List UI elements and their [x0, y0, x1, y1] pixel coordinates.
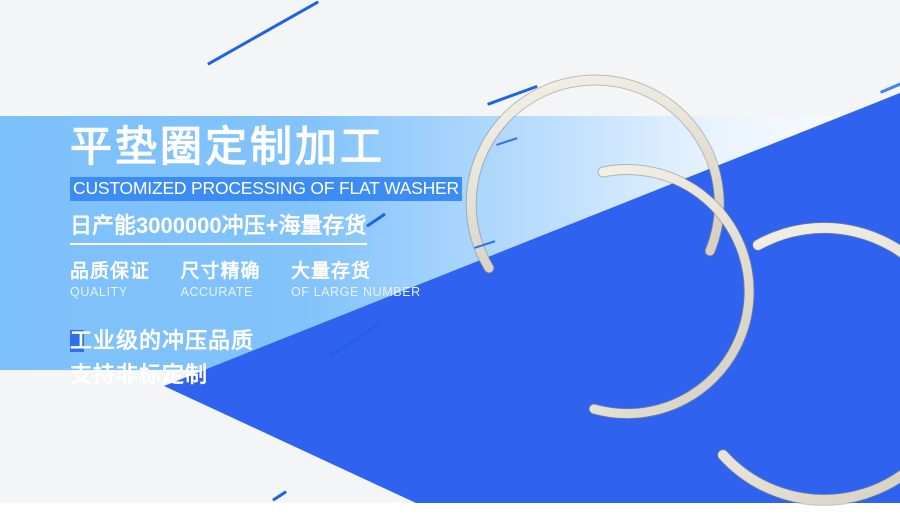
feature-item-quality: 品质保证 QUALITY: [70, 261, 150, 298]
subtitle-english: CUSTOMIZED PROCESSING OF FLAT WASHER: [70, 177, 462, 201]
tagline-row-quality: 工业级的冲压品质: [70, 324, 470, 358]
background-top-plate: [0, 0, 900, 116]
feature-label-cn: 品质保证: [70, 261, 150, 283]
page-title: 平垫圈定制加工: [70, 126, 470, 168]
tagline-block: 工业级的冲压品质 支持非标定制: [70, 324, 470, 392]
feature-label-en: QUALITY: [70, 286, 150, 299]
subtitle-wrap: CUSTOMIZED PROCESSING OF FLAT WASHER: [70, 177, 470, 201]
headline-copy-block: 平垫圈定制加工 CUSTOMIZED PROCESSING OF FLAT WA…: [70, 126, 470, 393]
feature-label-en: ACCURATE: [180, 286, 260, 299]
feature-label-en: OF LARGE NUMBER: [291, 286, 421, 299]
tagline-row-custom: 支持非标定制: [70, 358, 470, 392]
feature-label-cn: 尺寸精确: [180, 261, 260, 283]
feature-list: 品质保证 QUALITY 尺寸精确 ACCURATE 大量存货 OF LARGE…: [70, 261, 470, 298]
banner-root: 平垫圈定制加工 CUSTOMIZED PROCESSING OF FLAT WA…: [0, 0, 900, 521]
tagline-text: 支持非标定制: [70, 362, 208, 387]
tagline-text: 工业级的冲压品质: [70, 328, 254, 353]
feature-label-cn: 大量存货: [291, 261, 421, 283]
background-white-strip: [0, 503, 900, 521]
capacity-statement: 日产能3000000冲压+海量存货: [70, 208, 367, 245]
feature-item-stock: 大量存货 OF LARGE NUMBER: [291, 261, 421, 298]
feature-item-accurate: 尺寸精确 ACCURATE: [180, 261, 260, 298]
